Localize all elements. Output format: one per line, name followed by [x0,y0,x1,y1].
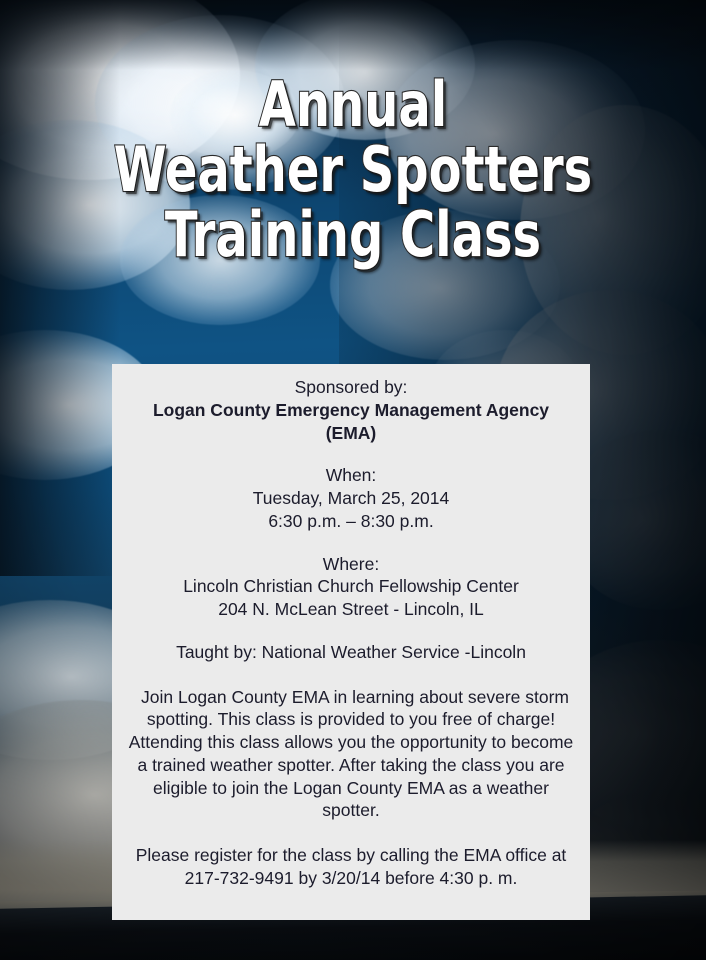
sponsor-abbreviation: (EMA) [126,422,576,445]
spacer [126,621,576,641]
sky-shadow-top [0,0,706,70]
where-venue: Lincoln Christian Church Fellowship Cent… [126,575,576,598]
title-line-3: Training Class [49,206,656,263]
flyer-title: Annual Weather Spotters Training Class [0,76,706,263]
weather-spotters-flyer: Annual Weather Spotters Training Class S… [0,0,706,960]
where-address: 204 N. McLean Street - Lincoln, IL [126,598,576,621]
title-line-1: Annual [49,76,656,133]
when-time: 6:30 p.m. – 8:30 p.m. [126,510,576,533]
registration-paragraph: Please register for the class by calling… [126,844,576,890]
information-panel: Sponsored by: Logan County Emergency Man… [112,364,590,920]
where-label: Where: [126,553,576,576]
title-line-2: Weather Spotters [49,141,656,198]
spacer [126,533,576,553]
when-label: When: [126,464,576,487]
taught-by-line: Taught by: National Weather Service -Lin… [126,641,576,664]
when-date: Tuesday, March 25, 2014 [126,487,576,510]
sponsored-by-label: Sponsored by: [126,376,576,399]
body-paragraph: Join Logan County EMA in learning about … [126,686,576,823]
spacer [126,664,576,686]
spacer [126,822,576,844]
spacer [126,444,576,464]
sponsor-name: Logan County Emergency Management Agency [126,399,576,422]
